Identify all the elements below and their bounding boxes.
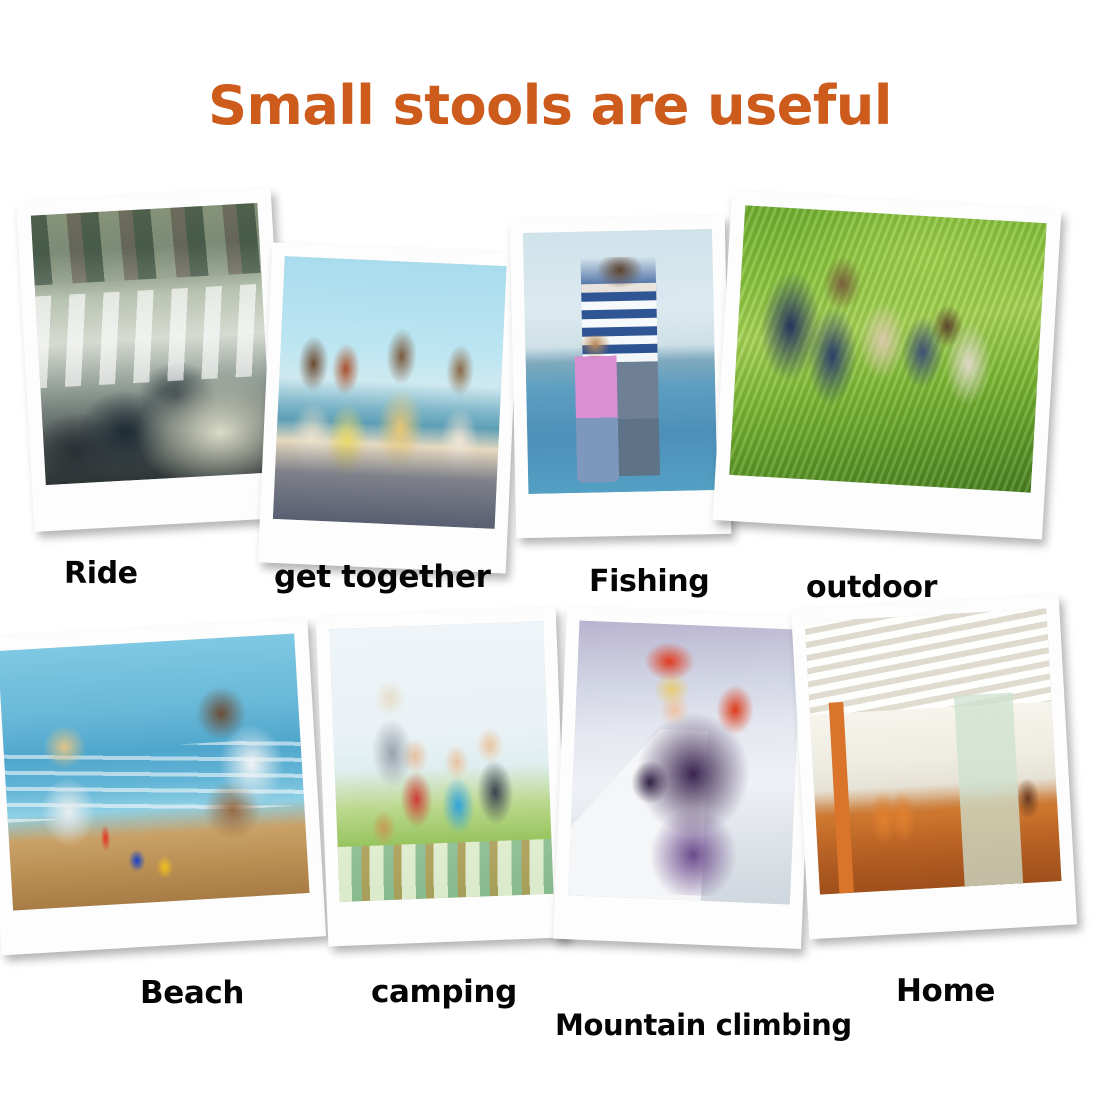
photo-thumbnail-fishing <box>523 229 717 494</box>
photo-thumbnail-home <box>805 608 1062 894</box>
photo-thumbnail-ride <box>31 203 273 485</box>
photo-card-mountain-climbing[interactable] <box>553 607 815 949</box>
photo-card-camping[interactable] <box>316 608 568 947</box>
photo-thumbnail-beach <box>0 633 310 910</box>
photo-card-home[interactable] <box>791 595 1077 939</box>
photo-thumbnail-outdoor <box>729 205 1046 492</box>
family-picnic-on-grass-photo <box>329 621 553 902</box>
man-and-boy-fishing-by-sea-photo <box>523 229 717 494</box>
photo-card-ride[interactable] <box>16 188 289 532</box>
photo-thumbnail-mountain-climbing <box>568 620 801 904</box>
child-in-snow-gear-photo <box>568 620 801 904</box>
photo-card-get-together[interactable] <box>258 243 520 574</box>
photo-card-outdoor[interactable] <box>713 191 1062 540</box>
boy-and-father-on-beach-photo <box>0 633 310 910</box>
photo-label-ride: Ride <box>64 556 138 591</box>
photo-label-outdoor: outdoor <box>806 570 937 605</box>
photo-card-fishing[interactable] <box>510 216 732 538</box>
photo-card-beach[interactable] <box>0 619 326 956</box>
children-on-grass-lawn-photo <box>729 205 1046 492</box>
photo-thumbnail-camping <box>329 621 553 902</box>
bright-interior-hallway-photo <box>805 608 1062 894</box>
photo-label-camping: camping <box>371 974 517 1010</box>
photo-label-beach: Beach <box>140 975 244 1011</box>
photo-label-fishing: Fishing <box>589 564 709 599</box>
photo-label-get-together: get together <box>274 559 491 595</box>
photo-thumbnail-get-together <box>273 256 507 529</box>
photo-label-home: Home <box>896 973 995 1009</box>
photo-label-mountain-climbing: Mountain climbing <box>555 1008 852 1042</box>
page-title: Small stools are useful <box>0 74 1100 137</box>
product-feature-banner: Small stools are useful Ride get togethe… <box>0 0 1100 1100</box>
friends-on-boat-deck-photo <box>273 256 507 529</box>
crowded-train-interior-photo <box>31 203 273 485</box>
